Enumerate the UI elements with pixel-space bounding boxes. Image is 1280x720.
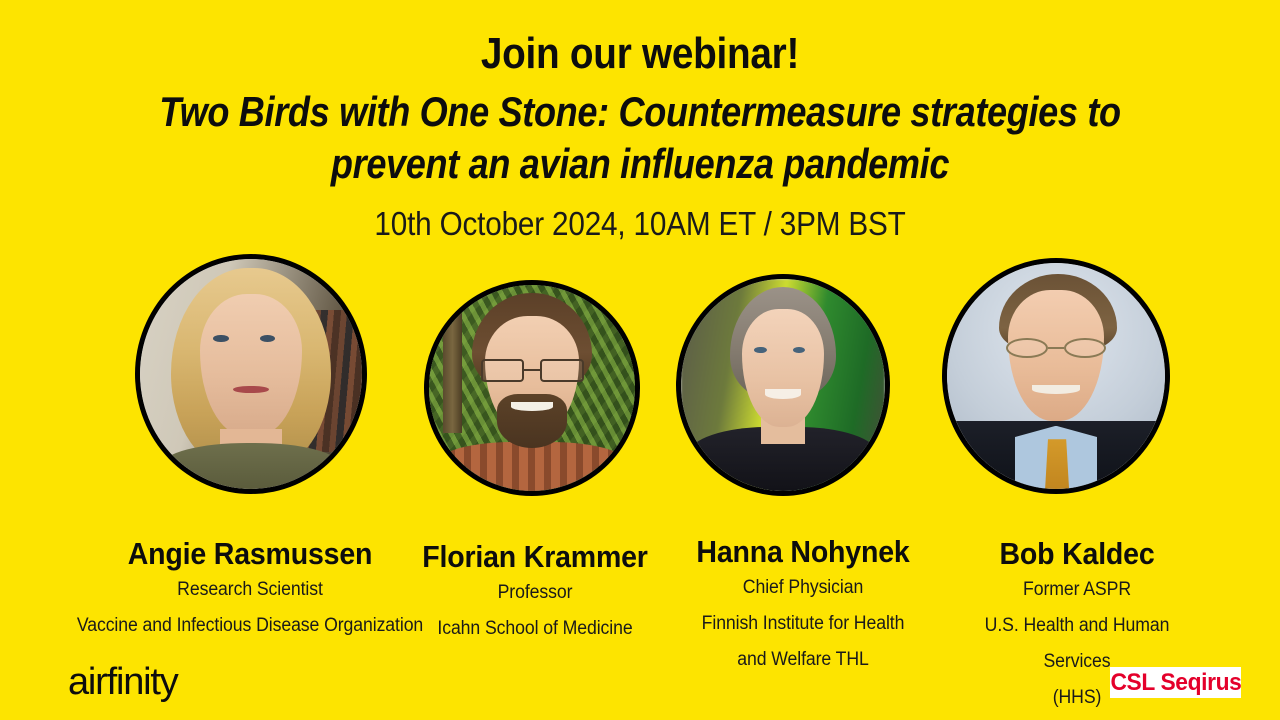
csl-seqirus-logo: CSL Seqirus [1110,667,1241,698]
csl-seqirus-logo-text: CSL Seqirus [1110,669,1241,697]
webinar-poster: Join our webinar! Two Birds with One Sto… [0,0,1280,720]
speaker-photo-hanna-nohynek [676,274,890,496]
glasses-bridge-2 [524,369,540,372]
speaker-caption-row: Angie Rasmussen Research Scientist Vacci… [0,530,1280,690]
speaker-role-4: Former ASPR [955,572,1199,608]
glasses-lens-right-2 [540,359,583,382]
headline: Join our webinar! [77,28,1203,80]
speaker-org-1: Vaccine and Infectious Disease Organizat… [55,608,446,644]
portrait-eye-left-1 [213,335,229,342]
portrait-eye-left-3 [754,347,766,353]
speaker-name-1: Angie Rasmussen [57,536,443,572]
webinar-datetime: 10th October 2024, 10AM ET / 3PM BST [64,204,1216,244]
speaker-org-line1-1: Vaccine and Infectious Disease Organizat… [55,608,446,644]
portrait-tie-4 [1045,439,1069,489]
speaker-role-3: Chief Physician [681,570,925,606]
speaker-role-1: Research Scientist [55,572,446,608]
portrait-image-3 [681,279,885,491]
portrait-image-2 [429,285,635,491]
portrait-tree-trunk-2 [443,285,462,433]
speaker-photo-florian-krammer [424,280,640,496]
portrait-image-4 [947,263,1165,489]
glasses-bridge-4 [1048,347,1064,349]
header-block: Join our webinar! Two Birds with One Sto… [0,28,1280,244]
speaker-org-3: Finnish Institute for Health and Welfare… [681,606,925,678]
portrait-smile-3 [765,389,802,399]
portrait-image-1 [140,259,362,489]
speaker-name-2: Florian Krammer [420,539,650,575]
speaker-org-4: U.S. Health and Human Services (HHS) [955,608,1199,716]
speaker-org-2: Icahn School of Medicine [419,611,652,647]
portrait-face-1 [200,294,302,437]
portrait-smile-2 [511,402,552,410]
speaker-caption-1: Angie Rasmussen Research Scientist Vacci… [40,536,460,644]
portrait-glasses-4 [1006,338,1106,358]
webinar-title: Two Birds with One Stone: Countermeasure… [90,86,1191,190]
portrait-mouth-1 [233,386,269,394]
speaker-role-2: Professor [419,575,652,611]
webinar-title-line2: prevent an avian influenza pandemic [90,138,1191,190]
speaker-org-line1-2: Icahn School of Medicine [419,611,652,647]
speaker-caption-2: Florian Krammer Professor Icahn School o… [410,539,660,647]
speaker-name-3: Hanna Nohynek [682,534,923,570]
speaker-photo-bob-kaldec [942,258,1170,494]
glasses-lens-left-2 [481,359,524,382]
glasses-lens-right-4 [1064,338,1106,358]
speaker-caption-3: Hanna Nohynek Chief Physician Finnish In… [672,534,934,678]
speaker-org-line1-3: Finnish Institute for Health [681,606,925,642]
speaker-photo-row [0,248,1280,548]
portrait-plaid-shirt-2 [439,442,624,491]
speaker-photo-angie-rasmussen [135,254,367,494]
glasses-lens-left-4 [1006,338,1048,358]
webinar-title-line1: Two Birds with One Stone: Countermeasure… [159,88,1121,135]
portrait-smile-4 [1032,385,1080,394]
portrait-glasses-2 [481,359,584,382]
speaker-org-line2-3: and Welfare THL [681,642,925,678]
portrait-shirt-1 [162,443,340,489]
airfinity-logo: airfinity [68,660,178,704]
speaker-name-4: Bob Kaldec [956,536,1197,572]
